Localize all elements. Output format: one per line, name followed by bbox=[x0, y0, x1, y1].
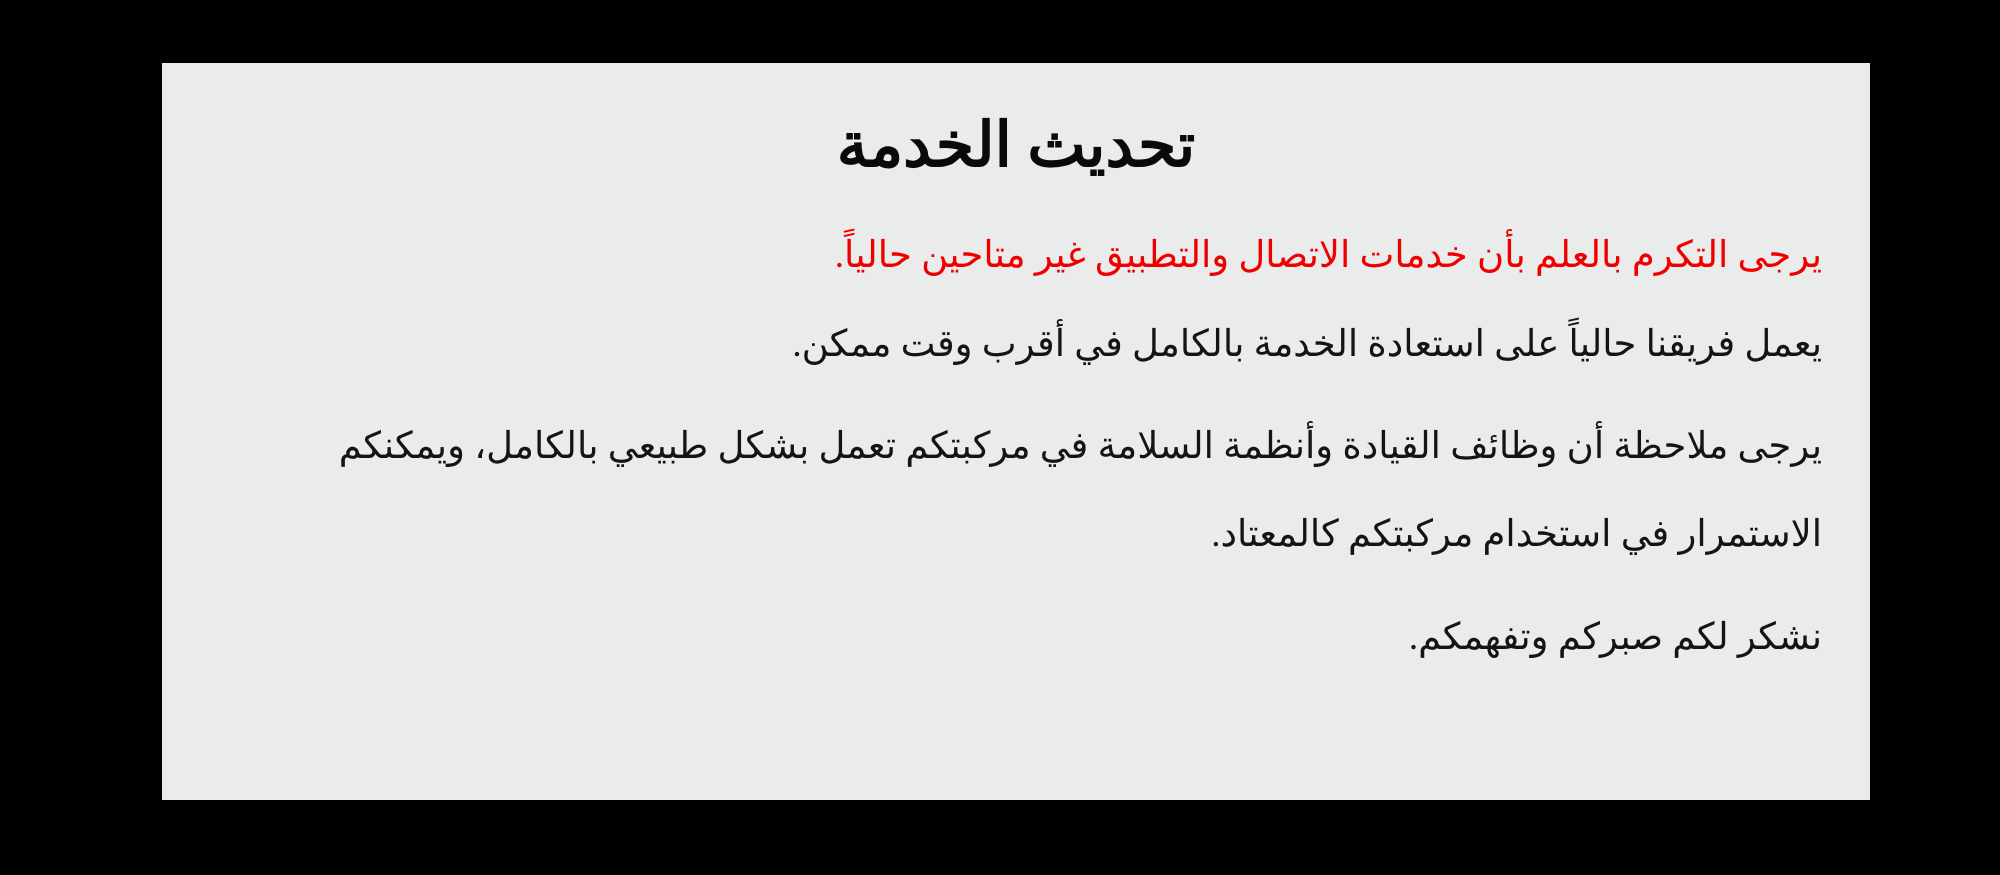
notice-line-restoration-status: يعمل فريقنا حالياً على استعادة الخدمة با… bbox=[202, 314, 1822, 375]
page-title: تحديث الخدمة bbox=[162, 63, 1870, 177]
notice-line-outage-alert: يرجى التكرم بالعلم بأن خدمات الاتصال وال… bbox=[202, 225, 1822, 286]
notice-panel: تحديث الخدمة يرجى التكرم بالعلم بأن خدما… bbox=[162, 63, 1870, 800]
notice-line-vehicle-safety-note: يرجى ملاحظة أن وظائف القيادة وأنظمة السل… bbox=[202, 403, 1822, 579]
notice-body: يرجى التكرم بالعلم بأن خدمات الاتصال وال… bbox=[162, 225, 1870, 668]
notice-line-thanks: نشكر لكم صبركم وتفهمكم. bbox=[202, 607, 1822, 668]
screen-background: تحديث الخدمة يرجى التكرم بالعلم بأن خدما… bbox=[0, 0, 2000, 875]
